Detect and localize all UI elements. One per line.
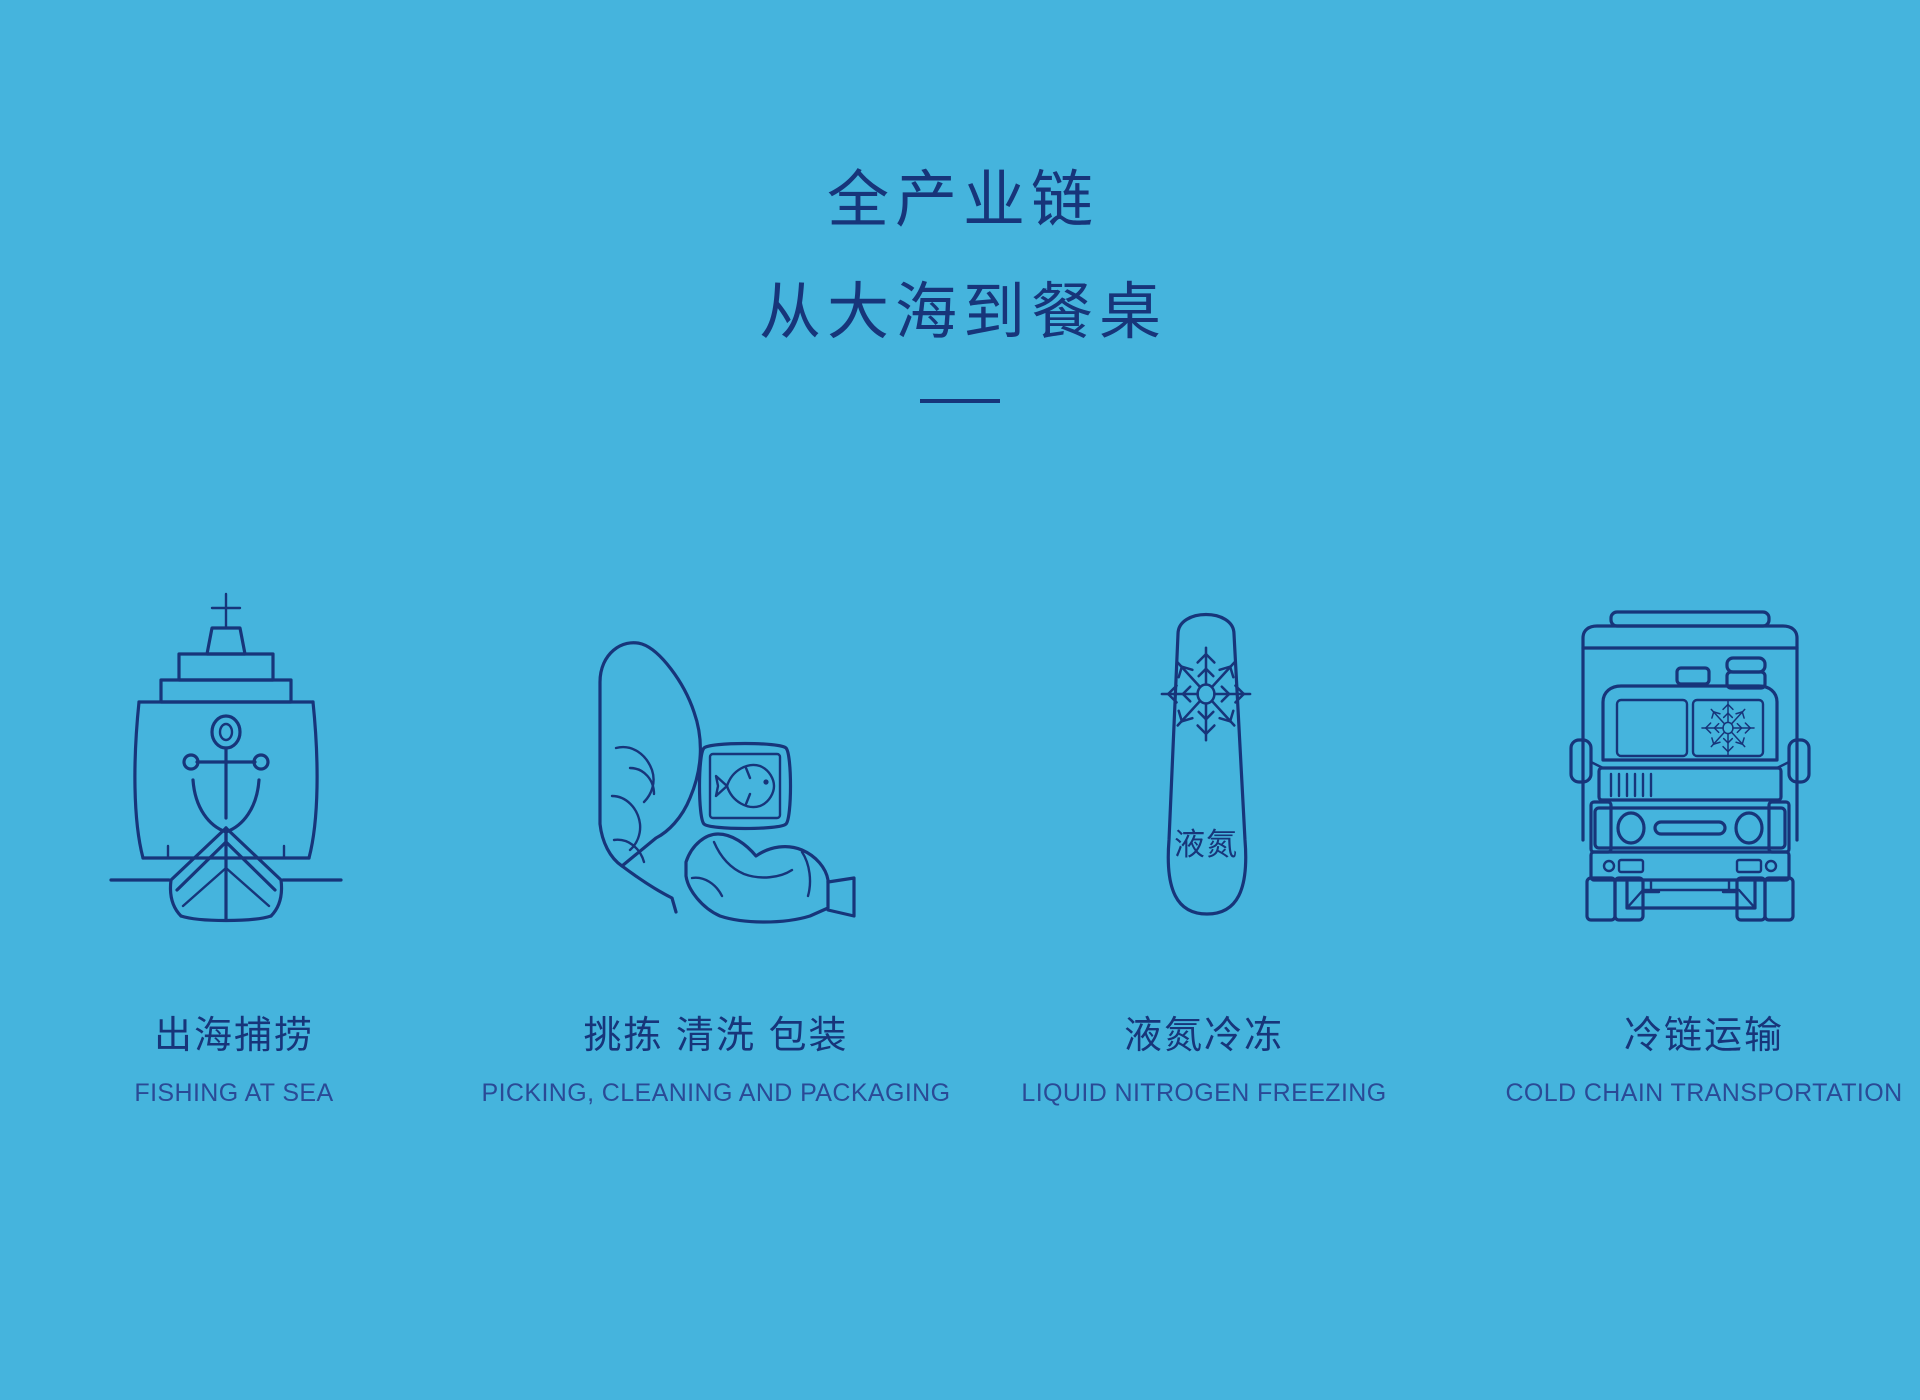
heading-block: 全产业链 从大海到餐桌	[0, 170, 1920, 403]
refrigerated-truck-icon	[1569, 520, 1839, 920]
step-labels: 挑拣 清洗 包装 PICKING, CLEANING AND PACKAGING	[476, 1016, 956, 1107]
step-label-cn: 出海捕捞	[0, 1016, 474, 1058]
liquid-nitrogen-tank-icon: 液氮	[1121, 520, 1291, 920]
fishing-boat-with-anchor-icon	[111, 520, 341, 920]
step-label-cn: 挑拣 清洗 包装	[476, 1016, 956, 1058]
page-title-line-2: 从大海到餐桌	[0, 282, 1920, 344]
step-item-picking-cleaning-packaging: 挑拣 清洗 包装 PICKING, CLEANING AND PACKAGING	[480, 520, 960, 1107]
step-label-en: PICKING, CLEANING AND PACKAGING	[476, 1080, 956, 1108]
divider-wrap	[0, 399, 1920, 403]
step-label-en: LIQUID NITROGEN FREEZING	[964, 1080, 1444, 1108]
step-item-fishing-at-sea: 出海捕捞 FISHING AT SEA	[0, 520, 480, 1107]
two-hands-with-packaged-fish-icon	[564, 520, 864, 920]
step-label-en: COLD CHAIN TRANSPORTATION	[1464, 1080, 1920, 1108]
title-divider	[920, 399, 1000, 403]
step-item-liquid-nitrogen-freezing: 液氮 液氮冷冻 LIQUID NITROGEN FREEZING	[960, 520, 1440, 1107]
infographic-canvas: 全产业链 从大海到餐桌	[0, 0, 1920, 1400]
step-item-cold-chain-transportation: 冷链运输 COLD CHAIN TRANSPORTATION	[1440, 520, 1920, 1107]
step-labels: 冷链运输 COLD CHAIN TRANSPORTATION	[1464, 1016, 1920, 1107]
process-steps: 出海捕捞 FISHING AT SEA	[0, 520, 1920, 1107]
step-labels: 出海捕捞 FISHING AT SEA	[0, 1016, 474, 1107]
step-label-cn: 液氮冷冻	[964, 1016, 1444, 1058]
tank-label: 液氮	[1174, 827, 1238, 862]
step-labels: 液氮冷冻 LIQUID NITROGEN FREEZING	[964, 1016, 1444, 1107]
step-label-cn: 冷链运输	[1464, 1016, 1920, 1058]
page-title-line-1: 全产业链	[0, 170, 1920, 232]
step-label-en: FISHING AT SEA	[0, 1080, 474, 1108]
